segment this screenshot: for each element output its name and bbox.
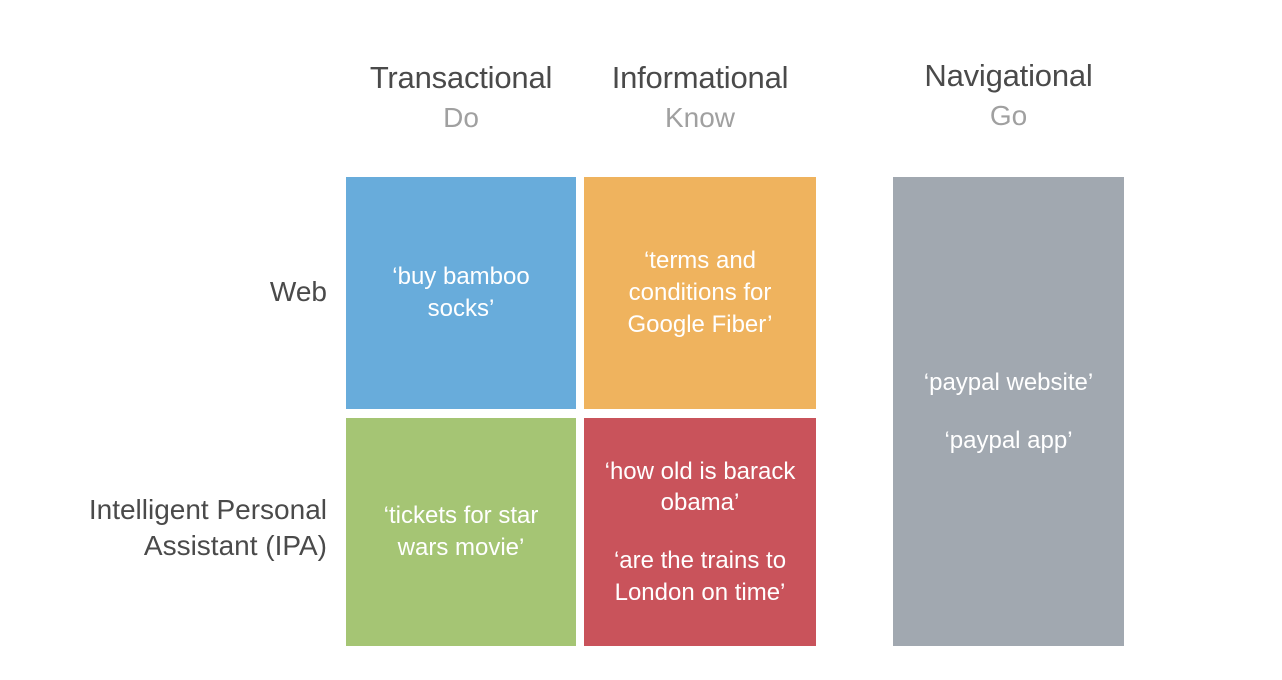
query-text: ‘how old is barack obama’ — [594, 456, 806, 519]
column-title: Navigational — [893, 60, 1124, 91]
cell-web-transactional: ‘buy bamboo socks’ — [346, 177, 576, 409]
column-subtitle: Do — [346, 104, 576, 132]
query-text: ‘buy bamboo socks’ — [356, 261, 566, 324]
column-header-informational: Informational Know — [584, 62, 816, 132]
cell-navigational: ‘paypal website’ ‘paypal app’ — [893, 177, 1124, 646]
query-text: ‘are the trains to London on time’ — [594, 545, 806, 608]
query-intent-matrix: Transactional Do Informational Know Navi… — [0, 0, 1282, 680]
row-label-web: Web — [10, 274, 327, 310]
column-title: Informational — [584, 62, 816, 93]
column-header-transactional: Transactional Do — [346, 62, 576, 132]
cell-ipa-transactional: ‘tickets for star wars movie’ — [346, 418, 576, 646]
query-text: ‘terms and conditions for Google Fiber’ — [594, 245, 806, 340]
query-text: ‘paypal app’ — [903, 425, 1114, 457]
column-subtitle: Go — [893, 102, 1124, 130]
query-text: ‘paypal website’ — [903, 367, 1114, 399]
row-label-ipa: Intelligent Personal Assistant (IPA) — [10, 492, 327, 565]
column-header-navigational: Navigational Go — [893, 60, 1124, 130]
column-title: Transactional — [346, 62, 576, 93]
cell-ipa-informational: ‘how old is barack obama’ ‘are the train… — [584, 418, 816, 646]
column-subtitle: Know — [584, 104, 816, 132]
cell-web-informational: ‘terms and conditions for Google Fiber’ — [584, 177, 816, 409]
query-text: ‘tickets for star wars movie’ — [356, 500, 566, 563]
